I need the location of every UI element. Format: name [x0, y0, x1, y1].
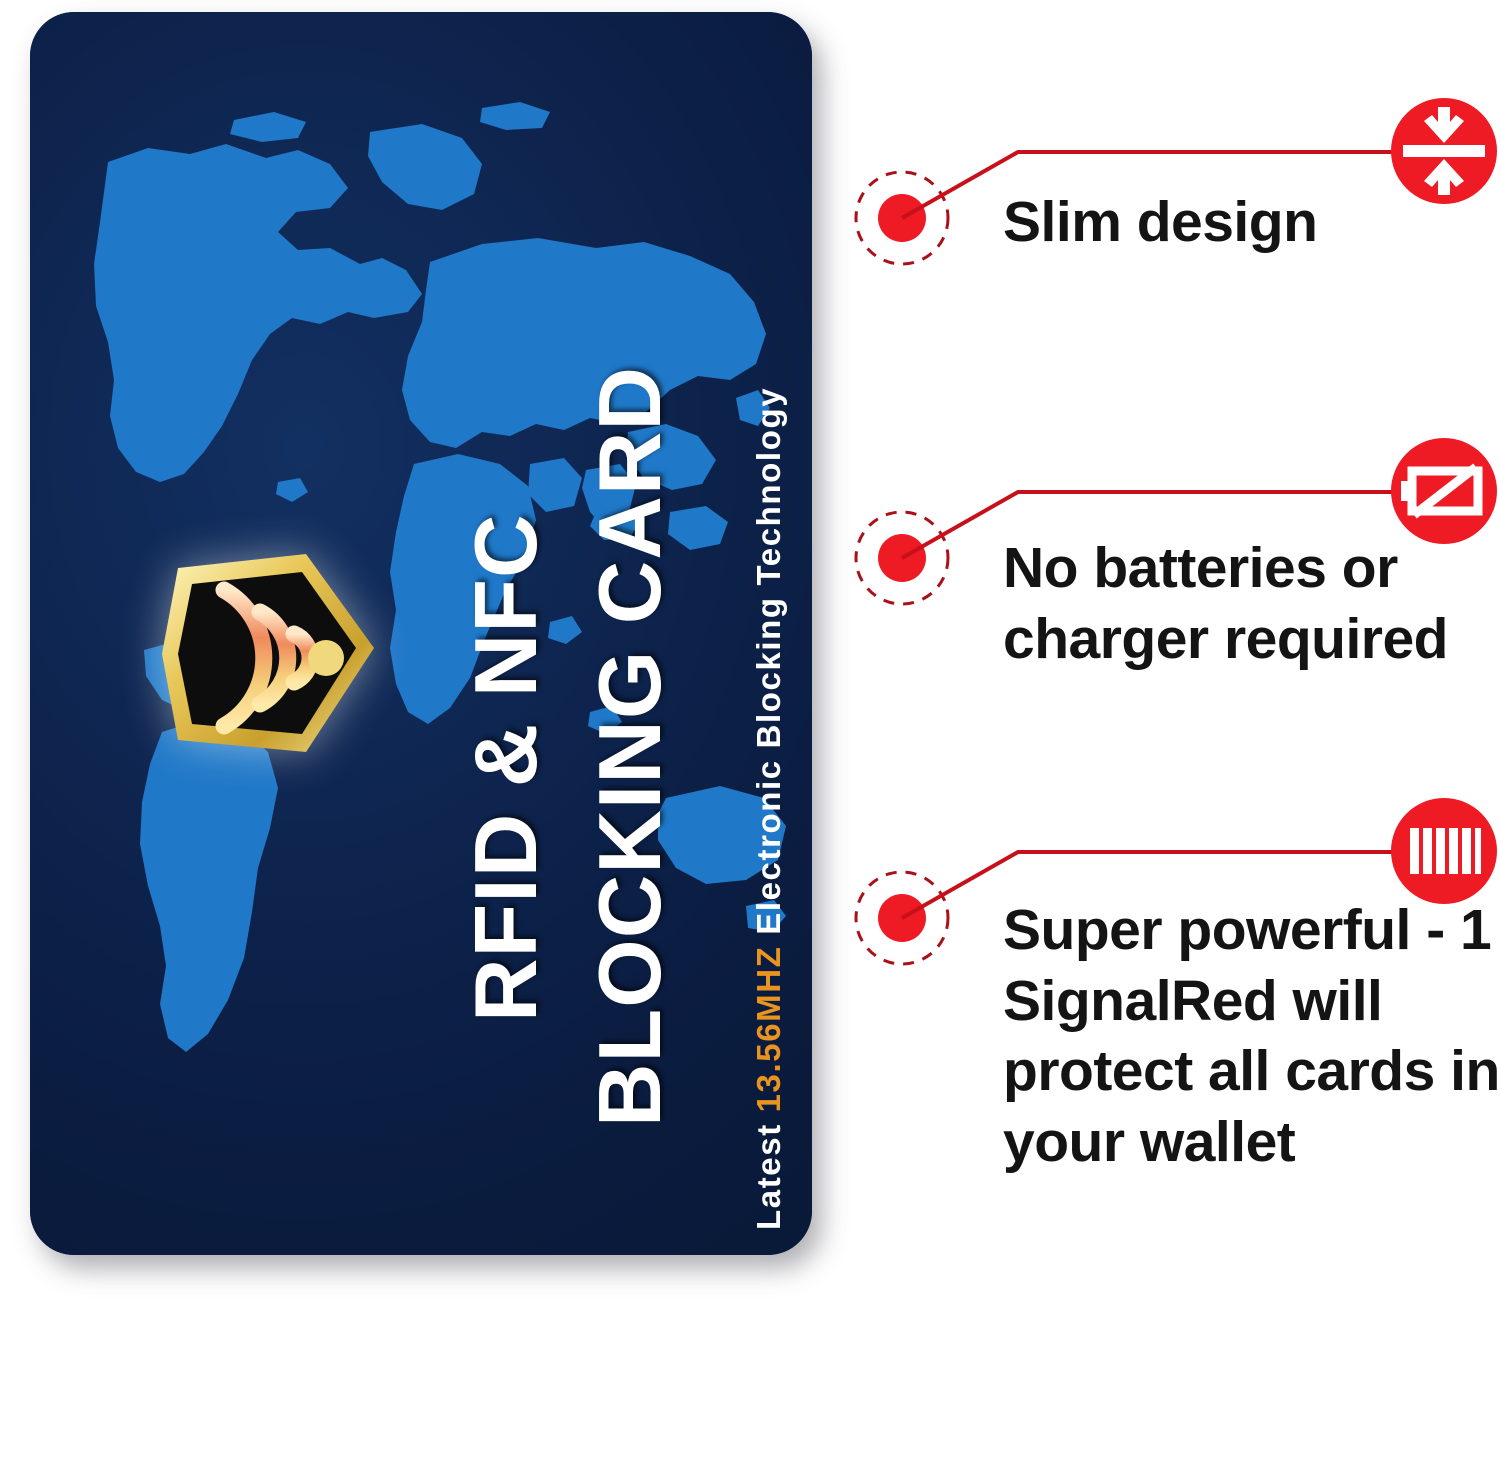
- card-subtitle-frequency: 13.56MHZ: [750, 946, 787, 1113]
- card-subtitle-suffix: Electronic Blocking Technology: [750, 387, 787, 946]
- card-subtitle: Latest 13.56MHZ Electronic Blocking Tech…: [752, 387, 785, 1230]
- card-reflection: RFID & NFC BLOCKING CARD Latest 13.56MHZ…: [30, 1272, 812, 1477]
- rfid-blocking-card: RFID & NFC BLOCKING CARD Latest 13.56MHZ…: [30, 12, 812, 1255]
- barcode-icon: [1388, 795, 1500, 907]
- product-card-stage: RFID & NFC BLOCKING CARD Latest 13.56MHZ…: [0, 0, 840, 1477]
- rfid-signal-shield-logo: [148, 528, 398, 778]
- card-title-line-2: BLOCKING CARD: [586, 366, 674, 1127]
- feature-callout-slim-design: Slim design: [840, 95, 1500, 395]
- feature-label-no-batteries: No batteries or charger required: [1003, 533, 1500, 674]
- feature-label-slim-design: Slim design: [1003, 187, 1500, 258]
- card-title-line-1: RFID & NFC: [462, 513, 550, 1022]
- feature-callout-list: Slim design No batteries or charger requ…: [840, 0, 1500, 1477]
- feature-callout-no-batteries: No batteries or charger required: [840, 435, 1500, 735]
- feature-label-super-powerful: Super powerful - 1 SignalRed will protec…: [1003, 895, 1500, 1178]
- feature-callout-super-powerful: Super powerful - 1 SignalRed will protec…: [840, 795, 1500, 1245]
- card-subtitle-prefix: Latest: [750, 1112, 787, 1230]
- no-battery-icon: [1388, 435, 1500, 547]
